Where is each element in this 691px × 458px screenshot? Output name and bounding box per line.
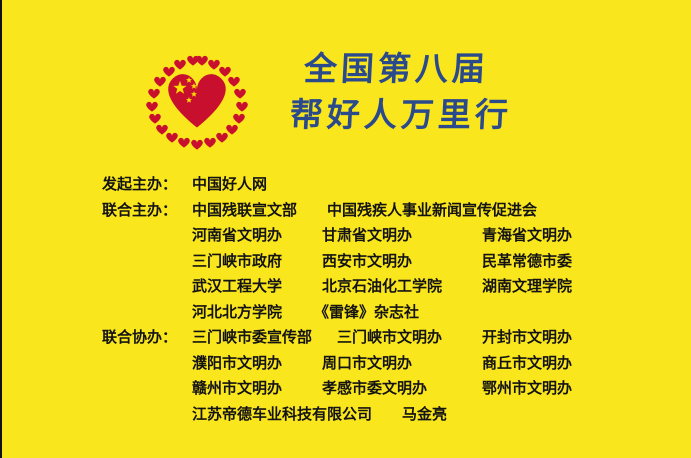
organizer-row: 发起主办： 中国好人网 [2,172,691,198]
row-label: 发起主办： [102,172,177,198]
row-col2: 马金亮 [402,402,447,428]
row-col1: 江苏帝德车业科技有限公司 [192,402,372,428]
row-col1: 中国好人网 [192,172,267,198]
main-heart-shape [168,74,226,127]
organizer-row: 赣州市文明办 孝感市委文明办 鄂州市文明办 [2,376,691,402]
title-line-1: 全国第八届 [289,46,581,92]
row-col1: 武汉工程大学 [192,274,282,300]
row-col3: 湖南文理学院 [482,274,572,300]
organizer-row: 江苏帝德车业科技有限公司 马金亮 [2,402,691,428]
organizer-list: 发起主办： 中国好人网 联合主办： 中国残联宣文部 中国残疾人事业新闻宣传促进会… [2,172,691,427]
row-col2: 《雷锋》杂志社 [314,300,419,326]
organizer-row: 武汉工程大学 北京石油化工学院 湖南文理学院 [2,274,691,300]
row-col1: 河北北方学院 [192,300,282,326]
poster-title: 全国第八届 帮好人万里行 [290,46,580,156]
row-col1: 中国残联宣文部 [192,198,297,224]
organizer-row: 濮阳市文明办 周口市文明办 商丘市文明办 [2,351,691,377]
title-line-2: 帮好人万里行 [289,92,581,138]
row-label: 联合协办： [102,325,177,351]
heart-with-chinese-flag-stars-logo [145,50,263,150]
row-col2: 北京石油化工学院 [322,274,442,300]
row-col1: 赣州市文明办 [192,376,282,402]
row-col1: 濮阳市文明办 [192,351,282,377]
row-col3: 青海省文明办 [482,223,572,249]
row-col3: 商丘市文明办 [482,351,572,377]
row-col2: 孝感市委文明办 [322,376,427,402]
row-label: 联合主办： [102,198,177,224]
organizer-row: 河北北方学院 《雷锋》杂志社 [2,300,691,326]
poster-header: 全国第八届 帮好人万里行 [2,38,691,158]
organizer-row: 联合协办： 三门峡市委宣传部 三门峡市文明办 开封市文明办 [2,325,691,351]
poster-canvas: 全国第八届 帮好人万里行 发起主办： 中国好人网 联合主办： 中国残联宣文部 中… [0,0,691,458]
organizer-row: 三门峡市政府 西安市文明办 民革常德市委 [2,249,691,275]
row-col3: 鄂州市文明办 [482,376,572,402]
row-col3: 开封市文明办 [482,325,572,351]
row-col1: 河南省文明办 [192,223,282,249]
organizer-row: 河南省文明办 甘肃省文明办 青海省文明办 [2,223,691,249]
row-col2: 周口市文明办 [322,351,412,377]
row-col1: 三门峡市委宣传部 [192,325,312,351]
organizer-row: 联合主办： 中国残联宣文部 中国残疾人事业新闻宣传促进会 [2,198,691,224]
row-col2: 西安市文明办 [322,249,412,275]
row-col2: 甘肃省文明办 [322,223,412,249]
row-col1: 三门峡市政府 [192,249,282,275]
row-col3: 民革常德市委 [482,249,572,275]
row-col2: 三门峡市文明办 [337,325,442,351]
row-col2: 中国残疾人事业新闻宣传促进会 [327,198,537,224]
